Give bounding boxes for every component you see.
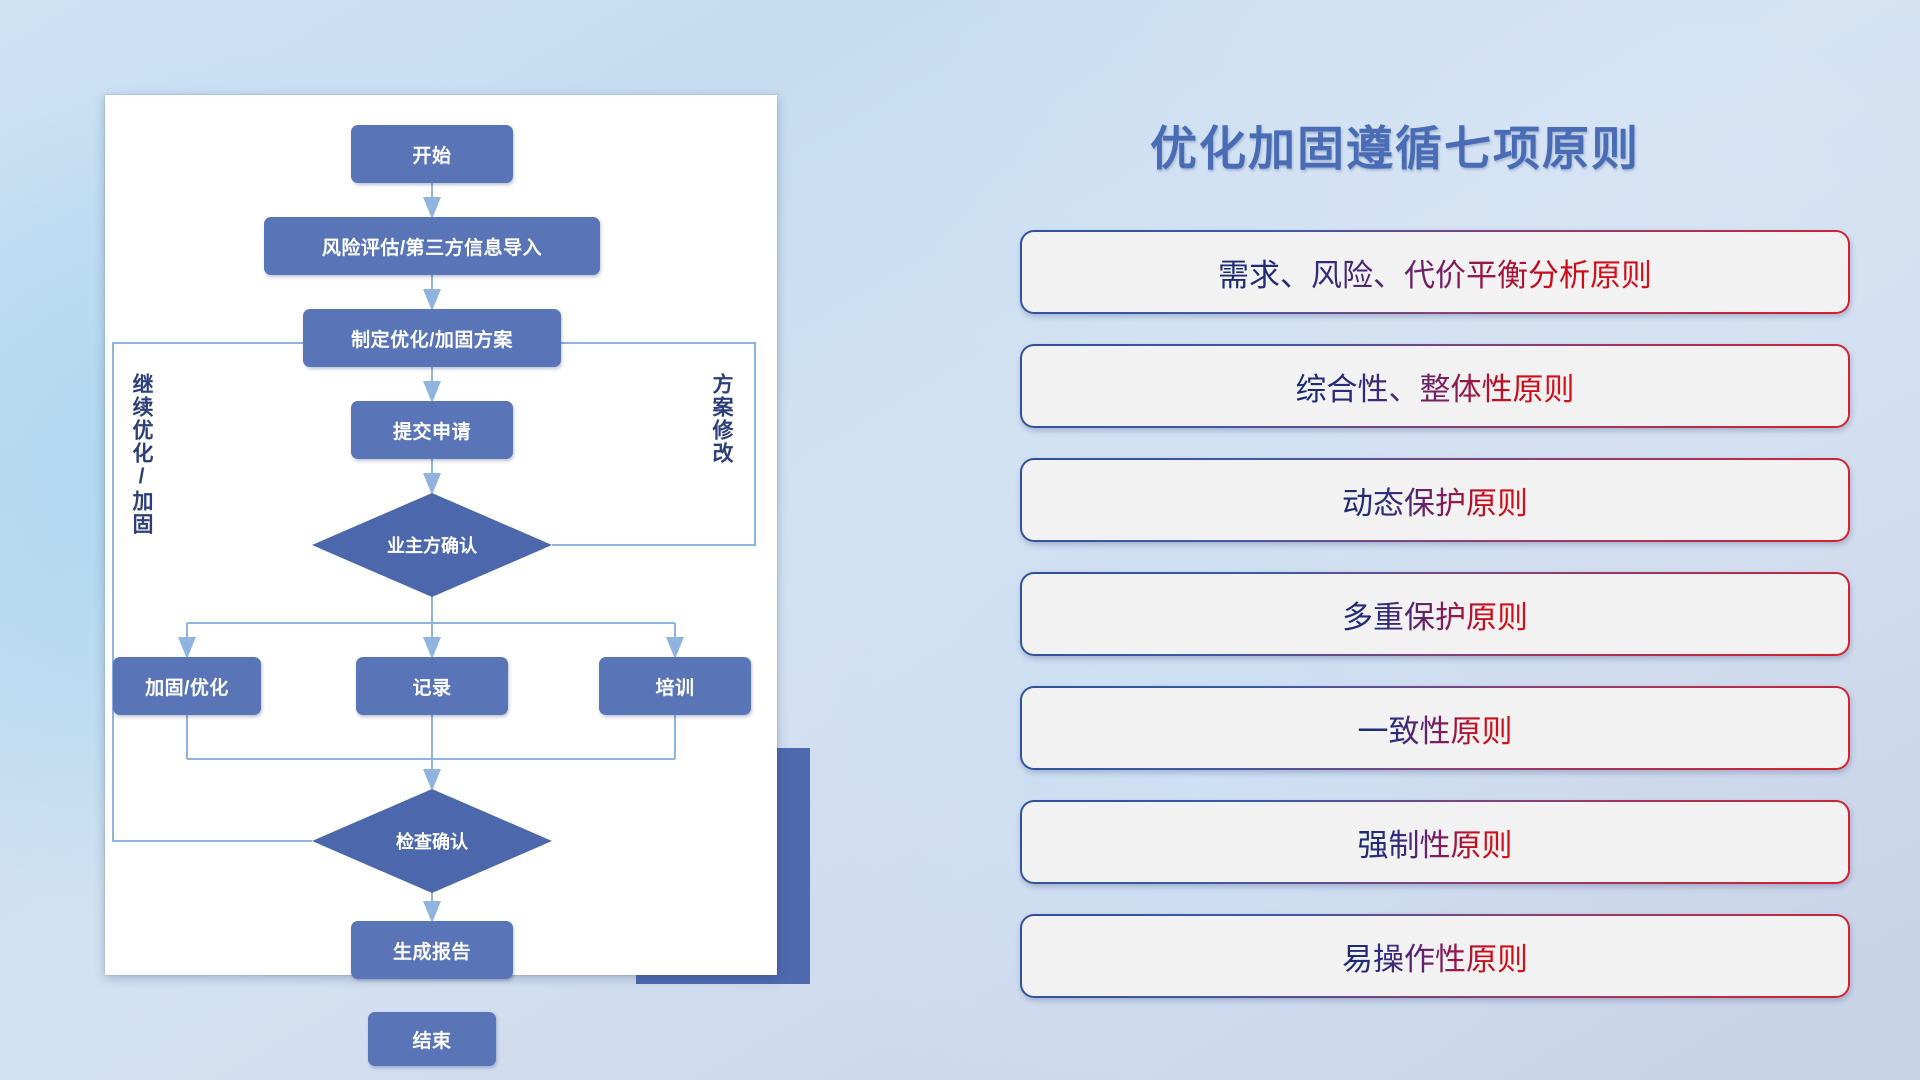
principle-label: 一致性原则: [1358, 706, 1513, 751]
principle-card-3[interactable]: 动态保护原则: [1020, 458, 1850, 542]
flow-node-label: 业主方确认: [387, 532, 477, 558]
card-face: 强制性原则: [1022, 802, 1848, 882]
flow-node-training[interactable]: 培训: [599, 657, 751, 715]
principles-panel: 优化加固遵循七项原则 需求、风险、代价平衡分析原则 综合性、整体性原则 动态保护…: [1020, 100, 1850, 1000]
panel-title: 优化加固遵循七项原则: [1150, 110, 1640, 179]
card-face: 综合性、整体性原则: [1022, 346, 1848, 426]
flow-node-label: 培训: [655, 673, 694, 700]
principle-label: 强制性原则: [1358, 820, 1513, 865]
card-face: 多重保护原则: [1022, 574, 1848, 654]
flow-node-submit[interactable]: 提交申请: [351, 401, 513, 459]
principle-card-7[interactable]: 易操作性原则: [1020, 914, 1850, 998]
principle-label: 动态保护原则: [1342, 478, 1528, 523]
flowchart-card: 开始 风险评估/第三方信息导入 制定优化/加固方案 提交申请 业主方确认 加固/…: [105, 95, 777, 975]
card-face: 需求、风险、代价平衡分析原则: [1022, 232, 1848, 312]
flow-node-label: 风险评估/第三方信息导入: [322, 233, 542, 260]
flow-node-end[interactable]: 结束: [368, 1012, 496, 1066]
principle-card-5[interactable]: 一致性原则: [1020, 686, 1850, 770]
flow-node-check-confirm[interactable]: 检查确认: [312, 789, 552, 893]
flow-node-plan[interactable]: 制定优化/加固方案: [303, 309, 561, 367]
flow-node-label: 生成报告: [393, 937, 471, 964]
flow-node-start[interactable]: 开始: [351, 125, 513, 183]
flow-node-reinforce[interactable]: 加固/优化: [113, 657, 261, 715]
card-face: 易操作性原则: [1022, 916, 1848, 996]
principle-label: 需求、风险、代价平衡分析原则: [1218, 250, 1652, 295]
principle-label: 易操作性原则: [1342, 934, 1528, 979]
principle-label: 多重保护原则: [1342, 592, 1528, 637]
principle-card-6[interactable]: 强制性原则: [1020, 800, 1850, 884]
principle-card-1[interactable]: 需求、风险、代价平衡分析原则: [1020, 230, 1850, 314]
edge-label-continue-optimize: 继续优化/加固: [131, 373, 152, 536]
flow-node-label: 开始: [412, 141, 451, 168]
flow-node-label: 结束: [412, 1026, 451, 1053]
flow-node-label: 提交申请: [393, 417, 471, 444]
flow-node-label: 加固/优化: [145, 673, 229, 700]
flow-node-label: 记录: [412, 673, 451, 700]
principle-label: 综合性、整体性原则: [1296, 364, 1575, 409]
principle-card-4[interactable]: 多重保护原则: [1020, 572, 1850, 656]
flow-node-risk-assessment[interactable]: 风险评估/第三方信息导入: [264, 217, 600, 275]
flow-node-label: 检查确认: [396, 828, 468, 854]
edge-label-plan-revision: 方案修改: [711, 373, 732, 465]
card-face: 动态保护原则: [1022, 460, 1848, 540]
slide-canvas: 开始 风险评估/第三方信息导入 制定优化/加固方案 提交申请 业主方确认 加固/…: [0, 0, 1920, 1080]
flow-node-owner-confirm[interactable]: 业主方确认: [312, 493, 552, 597]
principles-list: 需求、风险、代价平衡分析原则 综合性、整体性原则 动态保护原则 多重保护原则: [1020, 230, 1850, 1028]
principle-card-2[interactable]: 综合性、整体性原则: [1020, 344, 1850, 428]
flow-node-label: 制定优化/加固方案: [351, 325, 513, 352]
flow-node-record[interactable]: 记录: [356, 657, 508, 715]
flow-node-report[interactable]: 生成报告: [351, 921, 513, 979]
card-face: 一致性原则: [1022, 688, 1848, 768]
